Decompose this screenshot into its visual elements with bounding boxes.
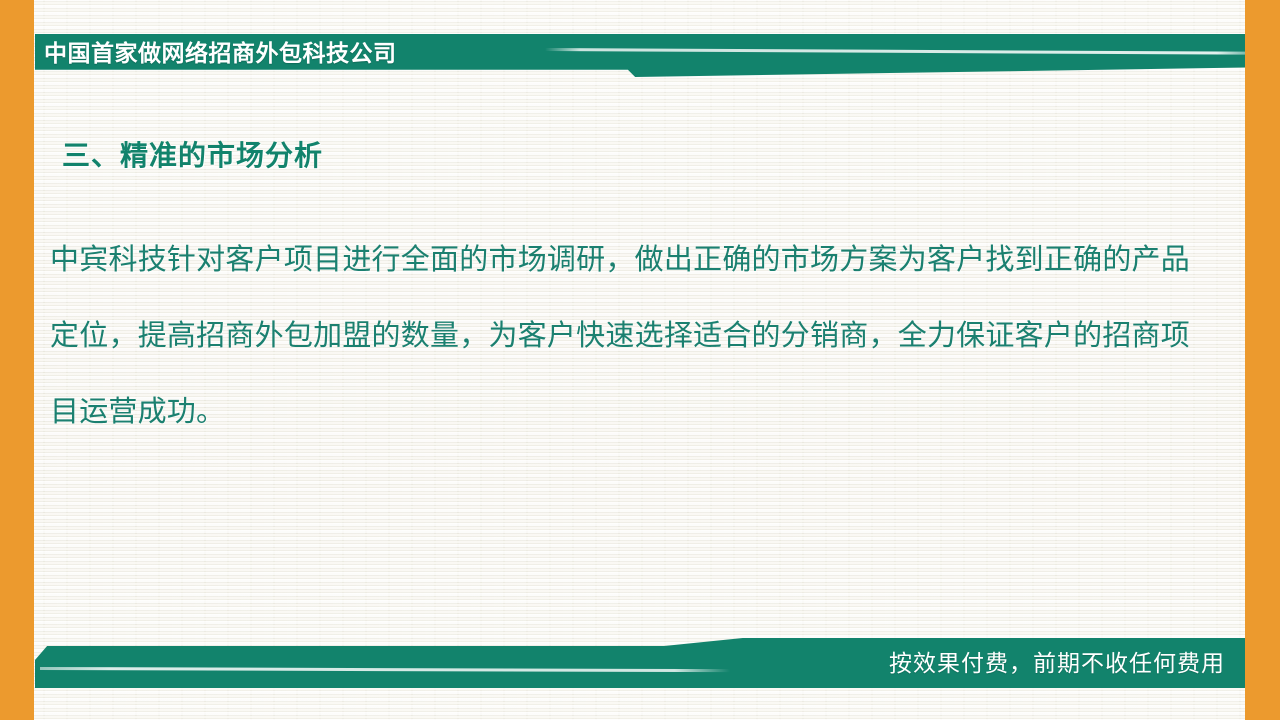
- header-banner: 中国首家做网络招商外包科技公司: [35, 34, 1245, 77]
- footer-slogan: 按效果付费，前期不收任何费用: [889, 646, 1225, 680]
- body-paragraph: 中宾科技针对客户项目进行全面的市场调研，做出正确的市场方案为客户找到正确的产品定…: [50, 222, 1190, 450]
- presentation-slide: 中国首家做网络招商外包科技公司 三、精准的市场分析 中宾科技针对客户项目进行全面…: [0, 0, 1280, 720]
- footer-banner: 按效果付费，前期不收任何费用: [35, 638, 1245, 688]
- company-tagline: 中国首家做网络招商外包科技公司: [44, 35, 397, 71]
- section-heading: 三、精准的市场分析: [62, 134, 323, 174]
- body-copy: 中宾科技针对客户项目进行全面的市场调研，做出正确的市场方案为客户找到正确的产品定…: [50, 222, 1190, 450]
